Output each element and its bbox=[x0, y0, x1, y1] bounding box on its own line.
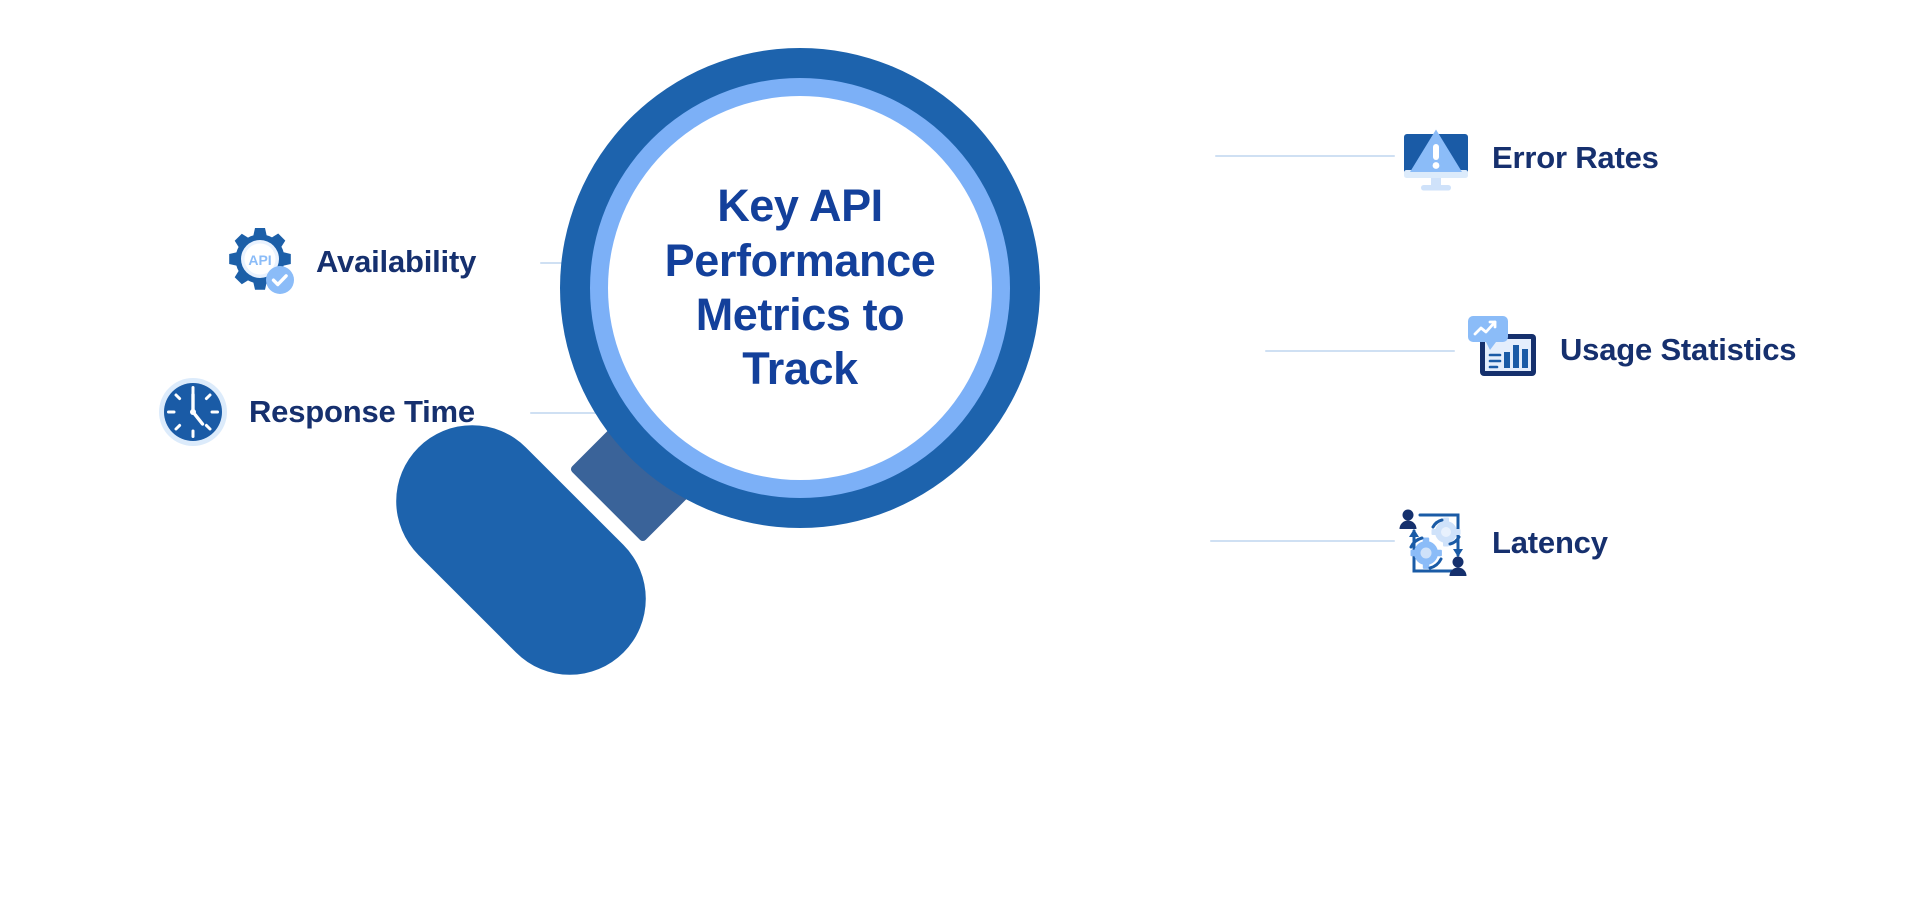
connector-line-usage-statistics bbox=[1265, 350, 1455, 352]
metric-label-latency: Latency bbox=[1492, 525, 1608, 561]
metric-label-usage-statistics: Usage Statistics bbox=[1560, 332, 1796, 368]
metric-item-response-time[interactable]: Response Time bbox=[155, 374, 475, 450]
metric-label-availability: Availability bbox=[316, 244, 476, 280]
metric-item-latency[interactable]: Latency bbox=[1398, 505, 1608, 581]
svg-text:API: API bbox=[248, 252, 271, 268]
infographic-canvas: Key API Performance Metrics to Track API… bbox=[0, 0, 1920, 903]
users-gears-cycle-icon bbox=[1398, 505, 1474, 581]
metric-label-error-rates: Error Rates bbox=[1492, 140, 1659, 176]
metric-item-error-rates[interactable]: Error Rates bbox=[1398, 120, 1659, 196]
center-title-line-3: Metrics to bbox=[635, 288, 965, 342]
bar-chart-monitor-icon bbox=[1466, 312, 1542, 388]
metric-item-availability[interactable]: API Availability bbox=[222, 224, 476, 300]
center-title-line-4: Track bbox=[635, 342, 965, 396]
center-title-line-2: Performance bbox=[635, 234, 965, 288]
magnifier-lens: Key API Performance Metrics to Track bbox=[608, 96, 992, 480]
clock-icon bbox=[155, 374, 231, 450]
center-title-line-1: Key API bbox=[635, 179, 965, 233]
api-gear-check-icon: API bbox=[222, 224, 298, 300]
metric-label-response-time: Response Time bbox=[249, 394, 475, 430]
connector-line-latency bbox=[1210, 540, 1395, 542]
center-title: Key API Performance Metrics to Track bbox=[635, 179, 965, 397]
magnifier-graphic: Key API Performance Metrics to Track bbox=[476, 44, 1076, 644]
monitor-warning-icon bbox=[1398, 120, 1474, 196]
metric-item-usage-statistics[interactable]: Usage Statistics bbox=[1466, 312, 1796, 388]
connector-line-error-rates bbox=[1215, 155, 1395, 157]
